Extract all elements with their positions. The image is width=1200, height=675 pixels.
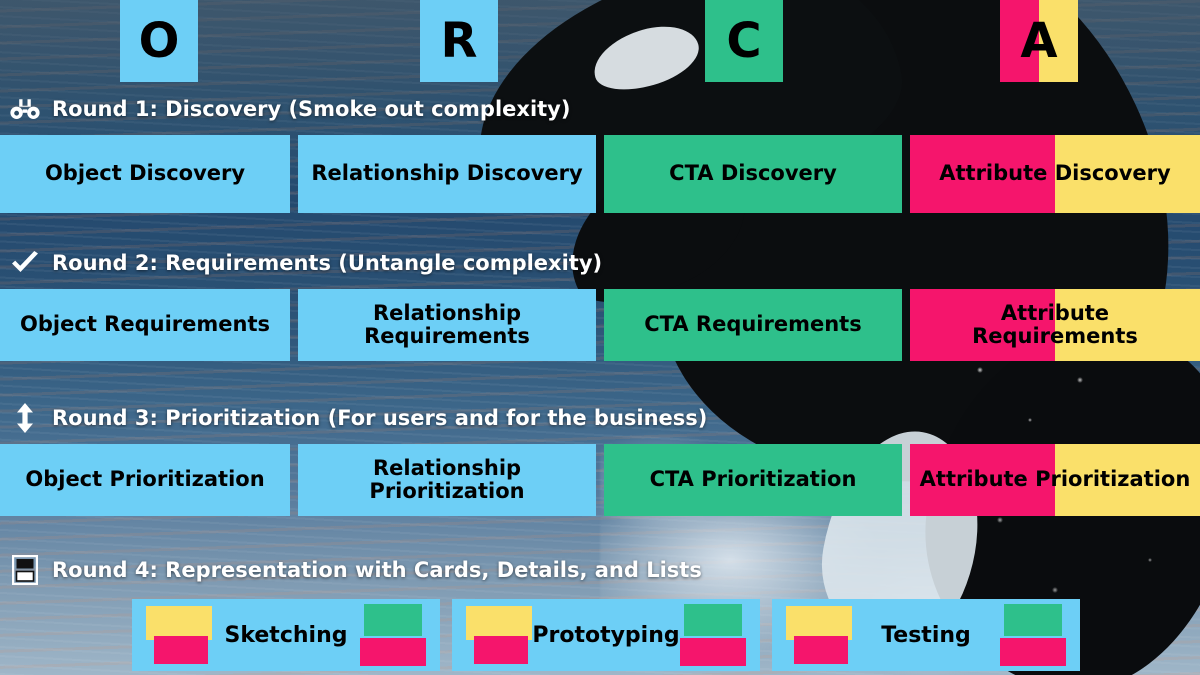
acronym-letter-r: R: [420, 0, 498, 82]
yellow-swatch: [146, 606, 212, 640]
round-4-header: Round 4: Representation with Cards, Deta…: [0, 553, 1200, 587]
acronym-letter-c-glyph: C: [726, 13, 761, 69]
round-3-title: Round 3: Prioritization (For users and f…: [52, 406, 707, 430]
testing-swatch-right: [1000, 606, 1066, 664]
card-cta-requirements-label: CTA Requirements: [644, 313, 861, 336]
card-sketching-label: Sketching: [212, 623, 360, 648]
card-cta-prioritization-label: CTA Prioritization: [650, 468, 857, 491]
round-4-cards: Sketching Prototyping: [0, 599, 1200, 671]
card-cta-discovery-label: CTA Discovery: [669, 162, 837, 185]
yellow-swatch: [786, 606, 852, 640]
card-cta-requirements[interactable]: CTA Requirements: [604, 289, 902, 361]
prototyping-swatch-right: [680, 606, 746, 664]
card-attribute-discovery[interactable]: Attribute Discovery: [910, 135, 1200, 213]
card-relationship-requirements[interactable]: Relationship Requirements: [298, 289, 596, 361]
round-1-section: Round 1: Discovery (Smoke out complexity…: [0, 92, 1200, 213]
round-3-header: Round 3: Prioritization (For users and f…: [0, 401, 1200, 435]
card-relationship-prioritization-label: Relationship Prioritization: [304, 457, 590, 503]
checkmark-icon: [8, 249, 42, 277]
card-attribute-requirements-label: Attribute Requirements: [916, 302, 1194, 348]
up-down-arrow-icon: [8, 404, 42, 432]
pink-swatch: [360, 638, 426, 666]
card-cta-prioritization[interactable]: CTA Prioritization: [604, 444, 902, 516]
card-relationship-requirements-label: Relationship Requirements: [304, 302, 590, 348]
round-1-cards: Object Discovery Relationship Discovery …: [0, 135, 1200, 213]
card-object-prioritization[interactable]: Object Prioritization: [0, 444, 290, 516]
card-testing[interactable]: Testing: [772, 599, 1080, 671]
card-object-requirements-label: Object Requirements: [20, 313, 270, 336]
round-2-cards: Object Requirements Relationship Require…: [0, 289, 1200, 361]
green-swatch: [364, 604, 422, 636]
card-relationship-discovery-label: Relationship Discovery: [311, 162, 582, 185]
round-1-title: Round 1: Discovery (Smoke out complexity…: [52, 97, 570, 121]
round-2-section: Round 2: Requirements (Untangle complexi…: [0, 246, 1200, 361]
card-attribute-prioritization[interactable]: Attribute Prioritization: [910, 444, 1200, 516]
acronym-letter-r-glyph: R: [441, 13, 478, 69]
sketching-swatch-left: [146, 606, 212, 664]
card-object-prioritization-label: Object Prioritization: [25, 468, 264, 491]
round-4-title: Round 4: Representation with Cards, Deta…: [52, 558, 702, 582]
round-1-header: Round 1: Discovery (Smoke out complexity…: [0, 92, 1200, 126]
card-object-discovery-label: Object Discovery: [45, 162, 245, 185]
acronym-letter-a-glyph: A: [1020, 13, 1057, 69]
acronym-letter-o: O: [120, 0, 198, 82]
round-2-title: Round 2: Requirements (Untangle complexi…: [52, 251, 602, 275]
pink-swatch: [680, 638, 746, 666]
green-swatch: [684, 604, 742, 636]
card-prototyping[interactable]: Prototyping: [452, 599, 760, 671]
green-swatch: [1004, 604, 1062, 636]
card-layout-icon: [8, 556, 42, 584]
acronym-letter-a: A: [1000, 0, 1078, 82]
card-relationship-prioritization[interactable]: Relationship Prioritization: [298, 444, 596, 516]
acronym-letter-c: C: [705, 0, 783, 82]
card-object-discovery[interactable]: Object Discovery: [0, 135, 290, 213]
prototyping-swatch-left: [466, 606, 532, 664]
binoculars-icon: [8, 95, 42, 123]
card-attribute-discovery-label: Attribute Discovery: [939, 162, 1170, 185]
card-sketching[interactable]: Sketching: [132, 599, 440, 671]
card-testing-label: Testing: [852, 623, 1000, 648]
yellow-swatch: [466, 606, 532, 640]
pink-swatch: [794, 636, 848, 664]
card-prototyping-label: Prototyping: [532, 623, 680, 648]
round-3-section: Round 3: Prioritization (For users and f…: [0, 401, 1200, 516]
testing-swatch-left: [786, 606, 852, 664]
pink-swatch: [474, 636, 528, 664]
pink-swatch: [1000, 638, 1066, 666]
pink-swatch: [154, 636, 208, 664]
card-object-requirements[interactable]: Object Requirements: [0, 289, 290, 361]
orca-framework-slide: O R C A Ro: [0, 0, 1200, 675]
acronym-letter-o-glyph: O: [139, 13, 180, 69]
acronym-letters: O R C A: [0, 0, 1200, 88]
card-attribute-requirements[interactable]: Attribute Requirements: [910, 289, 1200, 361]
round-2-header: Round 2: Requirements (Untangle complexi…: [0, 246, 1200, 280]
card-attribute-prioritization-label: Attribute Prioritization: [920, 468, 1191, 491]
sketching-swatch-right: [360, 606, 426, 664]
round-4-section: Round 4: Representation with Cards, Deta…: [0, 553, 1200, 671]
card-cta-discovery[interactable]: CTA Discovery: [604, 135, 902, 213]
round-3-cards: Object Prioritization Relationship Prior…: [0, 444, 1200, 516]
card-relationship-discovery[interactable]: Relationship Discovery: [298, 135, 596, 213]
